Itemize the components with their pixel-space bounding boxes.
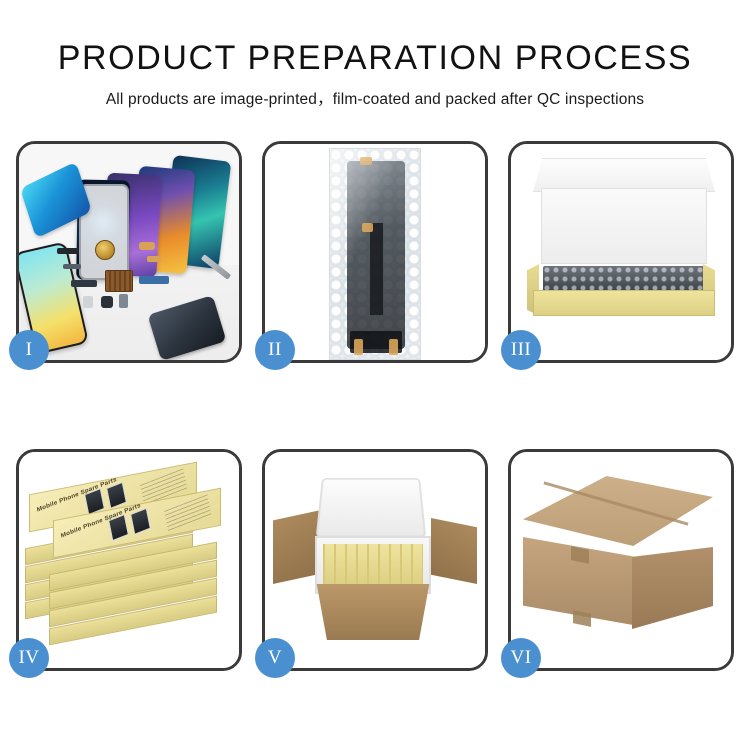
step-panel-6: VI <box>508 449 734 671</box>
step-panel-5: V <box>262 449 488 671</box>
carton-flap-icon <box>273 510 321 584</box>
part-icon <box>101 296 113 308</box>
box-label-text: Mobile Phone Spare Parts <box>36 476 117 514</box>
wrapped-part-icon <box>543 266 705 292</box>
box-front-icon <box>533 290 715 316</box>
part-icon <box>119 294 128 308</box>
carton-right-icon <box>632 547 713 629</box>
page-title: PRODUCT PREPARATION PROCESS <box>0 38 750 78</box>
part-icon <box>147 256 161 262</box>
speaker-coil-icon <box>95 240 115 260</box>
header: PRODUCT PREPARATION PROCESS All products… <box>0 0 750 109</box>
process-step-grid: I II <box>16 141 734 671</box>
step-panel-1: I <box>16 141 242 363</box>
page-subtitle: All products are image-printed，film-coat… <box>0 87 750 109</box>
step-badge-3: III <box>501 330 541 370</box>
carton-tape-icon <box>573 610 591 627</box>
step-badge-1: I <box>9 330 49 370</box>
packed-boxes-icon <box>323 544 423 584</box>
part-icon <box>83 296 93 308</box>
circuit-chip-icon <box>105 270 133 292</box>
carton-front-icon <box>309 584 437 640</box>
foam-sheet-icon <box>541 188 707 264</box>
part-icon <box>139 242 155 250</box>
part-icon <box>139 276 169 284</box>
part-icon <box>71 280 97 287</box>
step-badge-2: II <box>255 330 295 370</box>
step-image-3 <box>511 144 731 360</box>
box-lid-icon <box>533 158 715 192</box>
step-panel-3: III <box>508 141 734 363</box>
step-badge-6: VI <box>501 638 541 678</box>
foam-lid-icon <box>316 478 427 538</box>
step-image-6 <box>511 452 731 668</box>
step-panel-2: II <box>262 141 488 363</box>
step-badge-4: IV <box>9 638 49 678</box>
part-icon <box>63 264 81 269</box>
step-image-1 <box>19 144 239 360</box>
step-image-5 <box>265 452 485 668</box>
step-image-2 <box>265 144 485 360</box>
part-icon <box>57 248 79 254</box>
bubble-wrap-bag-icon <box>329 148 421 360</box>
carton-flap-icon <box>431 518 477 584</box>
step-image-4: Mobile Phone Spare Parts Mobile Phone Sp… <box>19 452 239 668</box>
step-badge-5: V <box>255 638 295 678</box>
step-panel-4: Mobile Phone Spare Parts Mobile Phone Sp… <box>16 449 242 671</box>
product-preparation-infographic: PRODUCT PREPARATION PROCESS All products… <box>0 0 750 750</box>
